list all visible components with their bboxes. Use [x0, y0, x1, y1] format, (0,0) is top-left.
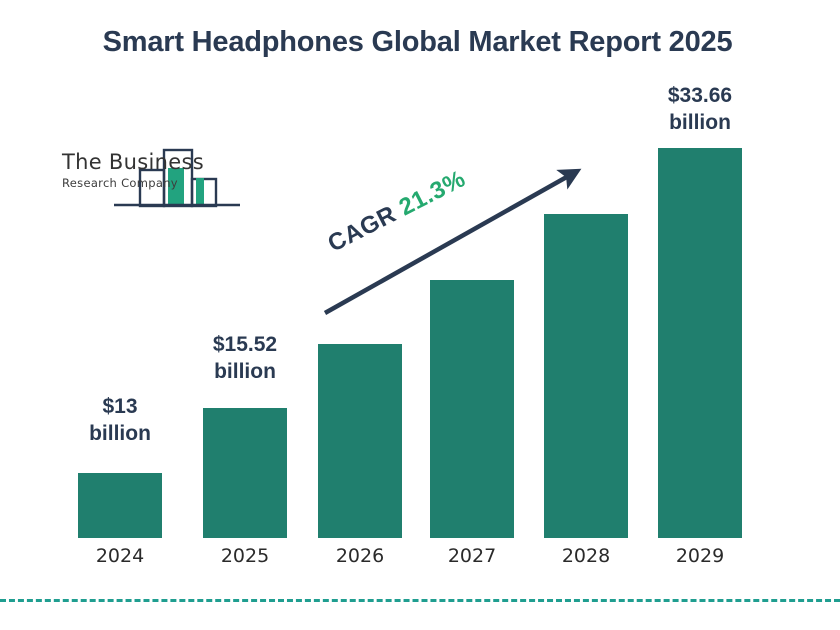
bar-value-2029-line2: billion [630, 109, 770, 136]
bar-value-2025-line2: billion [175, 358, 315, 385]
bar-group-2024 [78, 473, 162, 538]
bar-value-2024: $13 billion [50, 393, 190, 448]
bar-value-2024-line2: billion [50, 420, 190, 447]
cagr-annotation: CAGR 21.3% [324, 165, 471, 258]
bar-group-2029 [658, 148, 742, 538]
plot-area: $13 billion 2024 $15.52 billion 2025 202… [0, 0, 840, 630]
cagr-value: 21.3% [395, 165, 470, 221]
bar-group-2025 [203, 408, 287, 538]
bar-group-2028 [544, 214, 628, 538]
bar-value-2029: $33.66 billion [630, 82, 770, 137]
bar-value-2024-line1: $13 [50, 393, 190, 420]
bar-value-2025: $15.52 billion [175, 331, 315, 386]
bar-2024[interactable] [78, 473, 162, 538]
bar-2026[interactable] [318, 344, 402, 538]
bar-2029[interactable] [658, 148, 742, 538]
bar-2027[interactable] [430, 280, 514, 538]
bar-value-2025-line1: $15.52 [175, 331, 315, 358]
footer-divider [0, 599, 840, 602]
tick-label-2029: 2029 [630, 545, 770, 567]
tick-label-2024: 2024 [50, 545, 190, 567]
bar-value-2029-line1: $33.66 [630, 82, 770, 109]
bar-group-2026 [318, 344, 402, 538]
chart-canvas: Smart Headphones Global Market Report 20… [0, 0, 840, 630]
cagr-label-text: CAGR [324, 201, 401, 258]
bar-2025[interactable] [203, 408, 287, 538]
bar-group-2027 [430, 280, 514, 538]
bar-2028[interactable] [544, 214, 628, 538]
